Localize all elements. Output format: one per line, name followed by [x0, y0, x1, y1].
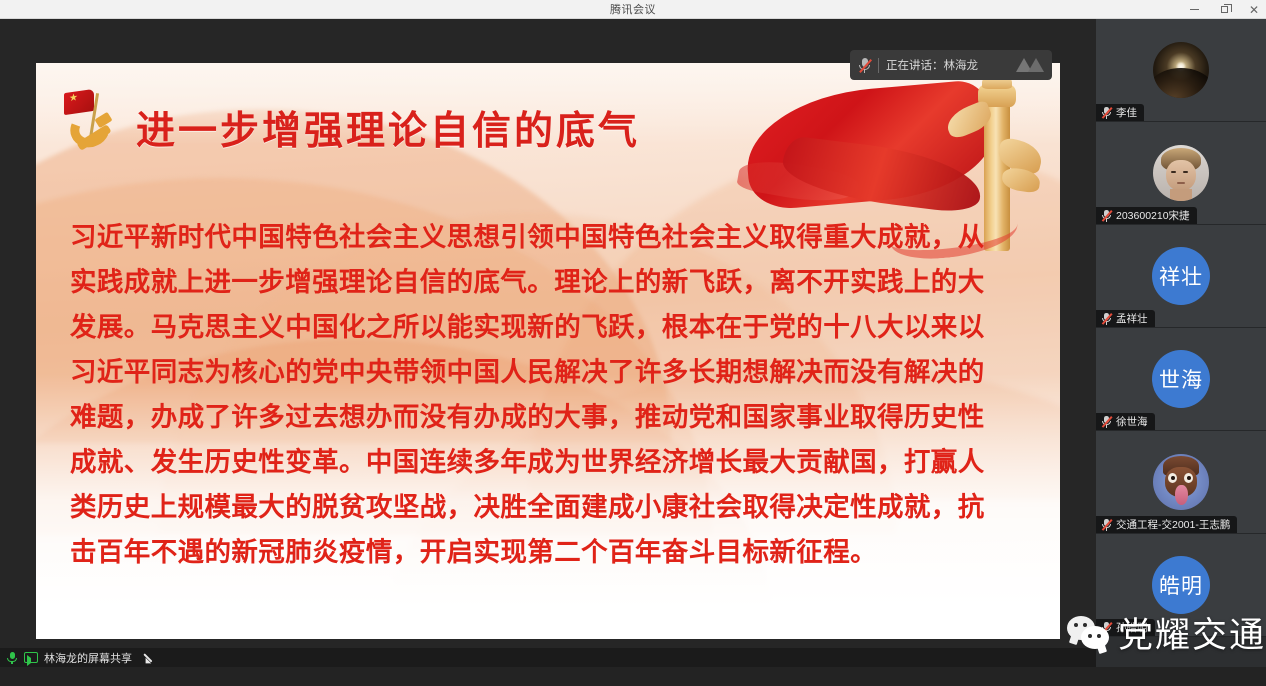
participant-name: 徐世海 — [1116, 414, 1148, 429]
tencent-meeting-window: 腾讯会议 ✕ 正在讲话：林海龙 — [0, 0, 1266, 686]
avatar — [1153, 454, 1209, 510]
avatar: 世海 — [1152, 350, 1210, 408]
close-button[interactable]: ✕ — [1246, 2, 1262, 18]
microphone-muted-icon — [1101, 312, 1112, 325]
avatar — [1153, 145, 1209, 201]
speaking-indicator-banner: 正在讲话：林海龙 — [850, 50, 1052, 80]
slide-body-line: 习近平同志为核心的党中央带领中国人民解决了许多长期想解决而没有解决的 — [70, 350, 1028, 395]
slide-body-line: 类历史上规模最大的脱贫攻坚战，决胜全面建成小康社会取得决定性成就，抗 — [70, 485, 1028, 530]
window-title: 腾讯会议 — [610, 1, 656, 17]
screen-share-icon[interactable] — [24, 652, 38, 663]
restore-button[interactable] — [1216, 2, 1232, 18]
screen-share-status-bar: 林海龙的屏幕共享 — [0, 648, 1096, 667]
participant-name: 203600210宋捷 — [1116, 208, 1190, 223]
cpc-party-emblem-icon — [62, 91, 124, 153]
wechat-logo-icon — [1067, 616, 1111, 650]
participant-tile[interactable]: 交通工程-交2001-王志鹏 — [1096, 431, 1266, 534]
slide-body-line: 击百年不遇的新冠肺炎疫情，开启实现第二个百年奋斗目标新征程。 — [70, 530, 1028, 575]
participant-tile[interactable]: 世海 徐世海 — [1096, 328, 1266, 431]
participant-tile[interactable]: 李佳 — [1096, 19, 1266, 122]
participant-name: 交通工程-交2001-王志鹏 — [1116, 517, 1230, 532]
participant-name-chip: 203600210宋捷 — [1096, 207, 1197, 224]
microphone-on-icon[interactable] — [6, 651, 18, 665]
slide-body-line: 实践成就上进一步增强理论自信的底气。理论上的新飞跃，离不开实践上的大 — [70, 260, 1028, 305]
participant-name-chip: 李佳 — [1096, 104, 1144, 121]
slide-body-line: 难题，办成了许多过去想办而没有办成的大事，推动党和国家事业取得历史性 — [70, 395, 1028, 440]
channel-watermark: 党耀交通 — [1067, 607, 1266, 658]
participant-tile[interactable]: 203600210宋捷 — [1096, 122, 1266, 225]
title-bar: 腾讯会议 ✕ — [0, 0, 1266, 19]
speaking-label: 正在讲话：林海龙 — [886, 57, 978, 73]
avatar — [1153, 42, 1209, 98]
watermark-text: 党耀交通 — [1118, 607, 1266, 658]
participant-name-chip: 交通工程-交2001-王志鹏 — [1096, 516, 1237, 533]
participant-name: 孟祥壮 — [1116, 311, 1148, 326]
slide-body-line: 习近平新时代中国特色社会主义思想引领中国特色社会主义取得重大成就，从 — [70, 215, 1028, 260]
screen-share-label: 林海龙的屏幕共享 — [44, 650, 132, 666]
window-controls: ✕ — [1186, 0, 1262, 19]
shared-screen-stage: 正在讲话：林海龙 — [0, 19, 1096, 667]
participant-name-chip: 孟祥壮 — [1096, 310, 1155, 327]
audio-wave-icon — [1016, 58, 1044, 72]
microphone-muted-icon — [1101, 415, 1112, 428]
pencil-annotate-icon[interactable] — [142, 651, 156, 665]
avatar: 皓明 — [1152, 556, 1210, 614]
divider — [878, 58, 879, 73]
slide-title: 进一步增强理论自信的底气 — [136, 100, 640, 156]
microphone-muted-icon — [1101, 209, 1112, 222]
slide-body-text: 习近平新时代中国特色社会主义思想引领中国特色社会主义取得重大成就，从 实践成就上… — [70, 215, 1028, 575]
presentation-slide: 进一步增强理论自信的底气 习近平新时代中国特色社会主义思想引领中国特色社会主义取… — [36, 63, 1060, 639]
participant-tile[interactable]: 祥壮 孟祥壮 — [1096, 225, 1266, 328]
minimize-button[interactable] — [1186, 2, 1202, 18]
participant-name: 李佳 — [1116, 105, 1137, 120]
avatar: 祥壮 — [1152, 247, 1210, 305]
slide-body-line: 发展。马克思主义中国化之所以能实现新的飞跃，根本在于党的十八大以来以 — [70, 305, 1028, 350]
participant-name-chip: 徐世海 — [1096, 413, 1155, 430]
microphone-muted-icon — [1101, 518, 1112, 531]
microphone-muted-icon — [1101, 106, 1112, 119]
microphone-muted-icon — [858, 57, 871, 74]
participant-rail: 李佳 203600210宋捷 祥壮 孟祥壮 — [1096, 19, 1266, 667]
slide-body-line: 成就、发生历史性变革。中国连续多年成为世界经济增长最大贡献国，打赢人 — [70, 440, 1028, 485]
